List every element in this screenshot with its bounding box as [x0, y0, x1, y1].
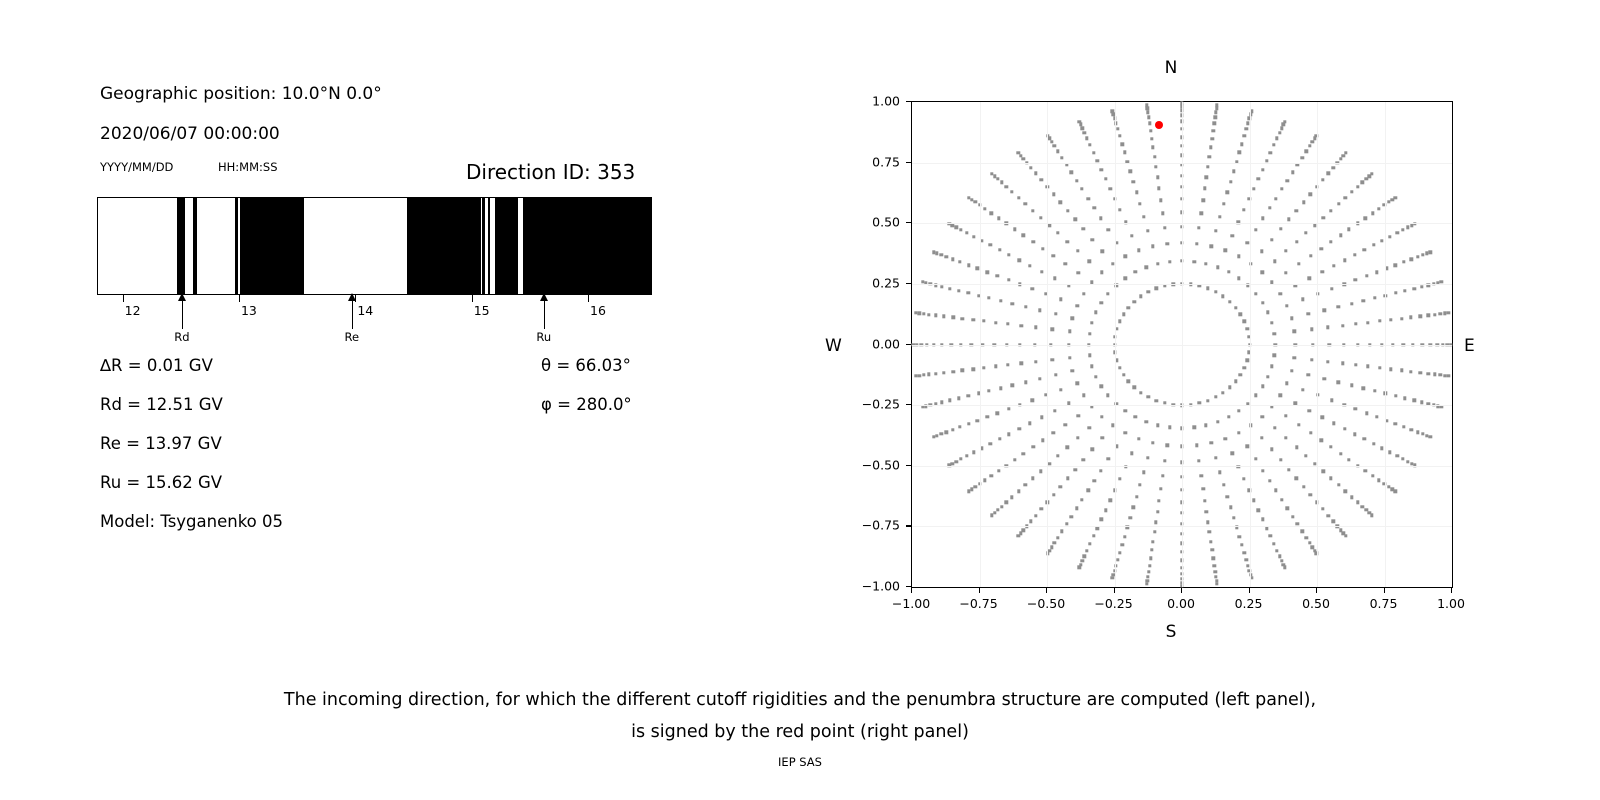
direction-point — [1279, 394, 1282, 397]
direction-point — [1106, 292, 1109, 295]
direction-point — [1428, 435, 1431, 438]
direction-point — [1066, 240, 1069, 243]
direction-point — [1373, 389, 1376, 392]
direction-point — [1394, 263, 1397, 266]
y-axis-tick-label: 0.75 — [846, 154, 900, 169]
direction-point — [1083, 555, 1086, 558]
direction-point — [1221, 391, 1224, 394]
direction-point — [1419, 315, 1422, 318]
direction-point — [1322, 377, 1325, 380]
direction-point — [1372, 243, 1375, 246]
direction-point — [1309, 193, 1312, 196]
direction-point — [966, 394, 969, 397]
marker-arrow-line — [182, 299, 183, 329]
direction-point — [1239, 312, 1242, 315]
direction-point — [1203, 499, 1206, 502]
direction-point — [1270, 364, 1273, 367]
direction-point — [987, 389, 990, 392]
direction-point — [1410, 428, 1413, 431]
direction-point — [1154, 165, 1157, 168]
direction-point — [1168, 426, 1171, 429]
direction-point — [1377, 479, 1380, 482]
direction-point — [1024, 380, 1027, 383]
direction-point — [1287, 218, 1290, 221]
penumbra-axis-tick-label: 15 — [474, 303, 490, 318]
direction-point — [1085, 549, 1088, 552]
direction-point — [917, 312, 920, 315]
direction-point — [1130, 451, 1133, 454]
caption-line-2: is signed by the red point (right panel) — [0, 716, 1600, 748]
grid-line-horizontal — [912, 526, 1452, 527]
direction-point — [1311, 140, 1314, 143]
direction-point — [1007, 433, 1010, 436]
direction-point — [1222, 202, 1225, 205]
direction-point — [1209, 146, 1212, 149]
direction-point — [1416, 430, 1419, 433]
direction-point — [1330, 287, 1333, 290]
penumbra-axis-tick-label: 12 — [125, 303, 141, 318]
direction-point — [1380, 446, 1383, 449]
direction-point — [940, 432, 943, 435]
direction-point — [1210, 441, 1213, 444]
direction-point — [1101, 249, 1104, 252]
direction-point — [1227, 415, 1230, 418]
direction-point — [1018, 259, 1021, 262]
direction-point — [1329, 477, 1332, 480]
direction-point — [996, 177, 999, 180]
direction-point — [1156, 510, 1159, 513]
direction-point — [1050, 358, 1053, 361]
direction-point — [1215, 107, 1218, 110]
direction-point — [1050, 327, 1053, 330]
direction-point — [1330, 398, 1333, 401]
direction-point — [1106, 394, 1109, 397]
direction-point — [1270, 448, 1273, 451]
direction-point — [1308, 541, 1311, 544]
direction-point — [1268, 206, 1271, 209]
direction-point — [1086, 197, 1089, 200]
direction-point — [1232, 516, 1235, 519]
direction-point — [1252, 499, 1255, 502]
direction-point — [1214, 570, 1217, 573]
direction-point — [1104, 177, 1107, 180]
direction-point — [1088, 143, 1091, 146]
direction-point — [1371, 211, 1374, 214]
direction-point — [951, 316, 954, 319]
x-axis-tick-label: −0.50 — [1027, 596, 1065, 611]
direction-point — [1056, 536, 1059, 539]
direction-point — [1029, 520, 1032, 523]
direction-point — [990, 474, 993, 477]
penumbra-axis-tick — [123, 295, 124, 302]
direction-point — [1272, 542, 1275, 545]
x-axis-tick — [1181, 588, 1182, 593]
direction-point — [1320, 247, 1323, 250]
direction-point — [1100, 415, 1103, 418]
direction-point — [927, 373, 930, 376]
direction-point — [1214, 456, 1217, 459]
direction-point — [1052, 254, 1055, 257]
direction-point — [1007, 278, 1010, 281]
direction-point — [989, 243, 992, 246]
direction-point — [1210, 244, 1213, 247]
direction-point — [1322, 470, 1325, 473]
direction-point — [1195, 444, 1198, 447]
direction-point — [914, 374, 917, 377]
direction-point — [1297, 262, 1300, 265]
direction-point — [1022, 157, 1025, 160]
direction-point — [1245, 127, 1248, 130]
direction-point — [1208, 530, 1211, 533]
direction-point — [980, 239, 983, 242]
direction-point — [1115, 327, 1118, 330]
direction-point — [1302, 200, 1305, 203]
direction-point — [1154, 521, 1157, 524]
direction-point — [980, 446, 983, 449]
penumbra-forbidden-band — [193, 198, 196, 294]
direction-point — [1252, 187, 1255, 190]
direction-point — [1421, 253, 1424, 256]
direction-point — [1154, 287, 1157, 290]
direction-point — [971, 318, 974, 321]
direction-point — [1216, 420, 1219, 423]
direction-point — [1362, 386, 1365, 389]
direction-point — [1159, 487, 1162, 490]
direction-point — [951, 257, 954, 260]
direction-point — [1094, 311, 1097, 314]
direction-point — [1339, 157, 1342, 160]
penumbra-axis-tick — [472, 295, 473, 302]
direction-point — [1213, 564, 1216, 567]
direction-point — [1150, 137, 1153, 140]
direction-point — [1301, 298, 1304, 301]
direction-point — [1010, 190, 1013, 193]
direction-point — [1205, 176, 1208, 179]
direction-point — [1034, 360, 1037, 363]
direction-point — [927, 313, 930, 316]
direction-point — [1213, 122, 1216, 125]
direction-point — [1127, 380, 1130, 383]
direction-point — [1321, 416, 1324, 419]
direction-point — [1156, 262, 1159, 265]
direction-point — [1308, 409, 1311, 412]
direction-point — [1060, 530, 1063, 533]
direction-point — [1215, 582, 1218, 585]
direction-point — [1038, 377, 1041, 380]
direction-point — [972, 235, 975, 238]
penumbra-forbidden-band — [482, 198, 485, 294]
direction-point — [940, 401, 943, 404]
direction-point — [1447, 311, 1450, 314]
direction-point — [942, 315, 945, 318]
y-axis-tick — [906, 525, 911, 526]
direction-point — [997, 217, 1000, 220]
direction-point — [1295, 209, 1298, 212]
direction-point — [967, 263, 970, 266]
direction-point — [1344, 489, 1347, 492]
direction-point — [1321, 507, 1324, 510]
direction-point — [958, 425, 961, 428]
penumbra-forbidden-band — [240, 198, 304, 294]
direction-point — [1121, 543, 1124, 546]
direction-point — [1142, 470, 1145, 473]
direction-point — [1034, 514, 1037, 517]
direction-point — [1127, 306, 1130, 309]
direction-point — [1257, 509, 1260, 512]
direction-point — [1146, 229, 1149, 232]
direction-point — [1065, 163, 1068, 166]
direction-point — [972, 451, 975, 454]
direction-point — [1107, 228, 1110, 231]
direction-point — [1054, 312, 1057, 315]
direction-point — [1273, 426, 1276, 429]
direction-point — [1129, 516, 1132, 519]
direction-point — [1284, 249, 1287, 252]
direction-point — [1163, 459, 1166, 462]
direction-point — [1090, 321, 1093, 324]
direction-point — [1104, 509, 1107, 512]
direction-point — [994, 321, 997, 324]
direction-point — [1242, 551, 1245, 554]
direction-point — [1153, 530, 1156, 533]
direction-point — [1147, 395, 1150, 398]
direction-point — [1034, 326, 1037, 329]
y-axis-tick-label: −0.25 — [846, 397, 900, 412]
direction-point — [1300, 530, 1303, 533]
direction-point — [1031, 445, 1034, 448]
direction-point — [1092, 151, 1095, 154]
direction-point — [1237, 255, 1240, 258]
direction-point — [1075, 507, 1078, 510]
direction-point — [1039, 216, 1042, 219]
direction-point — [1077, 566, 1080, 569]
direction-point — [1159, 199, 1162, 202]
direction-point — [1054, 373, 1057, 376]
direction-point — [942, 371, 945, 374]
direction-point — [1118, 366, 1121, 369]
direction-point — [1365, 274, 1368, 277]
direction-point — [1129, 169, 1132, 172]
direction-point — [1031, 209, 1034, 212]
direction-point — [1082, 458, 1085, 461]
direction-point — [1307, 312, 1310, 315]
geographic-position-label: Geographic position: 10.0°N 0.0° — [100, 84, 382, 104]
direction-point — [1412, 399, 1415, 402]
direction-point — [1006, 322, 1009, 325]
direction-point — [1226, 191, 1229, 194]
direction-point — [1278, 131, 1281, 134]
direction-point — [1304, 150, 1307, 153]
grid-line-horizontal — [912, 405, 1452, 406]
direction-point — [1088, 332, 1091, 335]
direction-point — [1428, 250, 1431, 253]
direction-point — [1395, 454, 1398, 457]
direction-point — [1290, 316, 1293, 319]
direction-point — [1401, 228, 1404, 231]
value-re: Re = 13.97 GV — [100, 434, 222, 453]
direction-point — [994, 365, 997, 368]
direction-point — [1005, 501, 1008, 504]
direction-point — [1068, 330, 1071, 333]
direction-point — [1146, 107, 1149, 110]
direction-point — [1337, 483, 1340, 486]
direction-point — [948, 287, 951, 290]
y-axis-tick-label: 0.00 — [846, 336, 900, 351]
direction-point — [922, 312, 925, 315]
direction-point — [1031, 398, 1034, 401]
direction-point — [990, 513, 993, 516]
direction-point — [1088, 260, 1091, 263]
direction-point — [1123, 151, 1126, 154]
direction-point — [1394, 291, 1397, 294]
direction-point — [1332, 264, 1335, 267]
direction-point — [1040, 270, 1043, 273]
direction-point — [999, 386, 1002, 389]
direction-point — [986, 415, 989, 418]
direction-point — [935, 434, 938, 437]
grid-line-horizontal — [912, 284, 1452, 285]
direction-point — [1091, 448, 1094, 451]
direction-point — [1409, 316, 1412, 319]
direction-point — [1122, 373, 1125, 376]
direction-point — [1065, 522, 1068, 525]
direction-point — [1274, 489, 1277, 492]
direction-point — [1421, 432, 1424, 435]
direction-point — [1366, 365, 1369, 368]
direction-point — [1208, 155, 1211, 158]
direction-point — [1377, 207, 1380, 210]
direction-point — [1161, 212, 1164, 215]
direction-id-label: Direction ID: 353 — [466, 160, 635, 184]
direction-point — [1221, 295, 1224, 298]
direction-point — [1059, 485, 1062, 488]
direction-point — [1322, 309, 1325, 312]
direction-point — [1273, 260, 1276, 263]
direction-point — [922, 373, 925, 376]
direction-point — [1295, 240, 1298, 243]
direction-point — [1284, 414, 1287, 417]
y-axis-tick — [906, 465, 911, 466]
direction-point — [966, 291, 969, 294]
direction-point — [1350, 302, 1353, 305]
direction-point — [1133, 300, 1136, 303]
direction-point — [1343, 259, 1346, 262]
direction-point — [1090, 364, 1093, 367]
direction-point — [1285, 304, 1288, 307]
direction-point — [1133, 386, 1136, 389]
direction-point — [1308, 144, 1311, 147]
direction-point — [1321, 178, 1324, 181]
direction-point — [1301, 388, 1304, 391]
direction-point — [1052, 193, 1055, 196]
selected-direction-point[interactable] — [1155, 121, 1163, 129]
direction-point — [1228, 300, 1231, 303]
direction-point — [1070, 515, 1073, 518]
direction-point — [1050, 140, 1053, 143]
direction-point — [1053, 144, 1056, 147]
direction-point — [1040, 178, 1043, 181]
direction-point — [1393, 490, 1396, 493]
direction-point — [1150, 548, 1153, 551]
direction-point — [1006, 363, 1009, 366]
direction-point — [1419, 371, 1422, 374]
direction-point — [1195, 242, 1198, 245]
direction-point — [1039, 470, 1042, 473]
direction-point — [1270, 238, 1273, 241]
direction-point — [1394, 422, 1397, 425]
direction-point — [1205, 510, 1208, 513]
x-axis-tick — [1316, 588, 1317, 593]
direction-point — [1122, 312, 1125, 315]
direction-point — [1278, 555, 1281, 558]
compass-south-label: S — [1166, 622, 1177, 642]
direction-point — [1291, 515, 1294, 518]
direction-point — [1031, 477, 1034, 480]
direction-point — [1081, 127, 1084, 130]
direction-point — [1214, 290, 1217, 293]
direction-point — [1291, 171, 1294, 174]
direction-point — [1139, 391, 1142, 394]
direction-point — [1007, 253, 1010, 256]
direction-point — [1403, 289, 1406, 292]
direction-point — [1266, 311, 1269, 314]
direction-point — [1024, 202, 1027, 205]
direction-point — [1268, 479, 1271, 482]
direction-point — [1024, 305, 1027, 308]
direction-point — [961, 369, 964, 372]
direction-point — [1064, 262, 1067, 265]
direction-point — [1309, 431, 1312, 434]
direction-point — [965, 454, 968, 457]
direction-point — [1420, 285, 1423, 288]
direction-point — [1138, 483, 1141, 486]
direction-point — [1022, 234, 1025, 237]
direction-point — [998, 248, 1001, 251]
direction-point — [1362, 299, 1365, 302]
direction-point — [1145, 104, 1148, 107]
direction-point — [1361, 181, 1364, 184]
direction-point — [987, 296, 990, 299]
direction-point — [951, 428, 954, 431]
direction-point — [996, 411, 999, 414]
direction-point — [1234, 306, 1237, 309]
direction-point — [957, 289, 960, 292]
direction-point — [1116, 127, 1119, 130]
direction-point — [1274, 197, 1277, 200]
direction-point — [1347, 458, 1350, 461]
direction-point — [1192, 260, 1195, 263]
direction-point — [1146, 456, 1149, 459]
direction-point — [1148, 564, 1151, 567]
y-axis-tick-label: 1.00 — [846, 94, 900, 109]
direction-point — [1257, 177, 1260, 180]
direction-point — [1402, 260, 1405, 263]
direction-point — [1296, 163, 1299, 166]
direction-point — [1279, 458, 1282, 461]
direction-point — [1363, 469, 1366, 472]
direction-point — [1270, 321, 1273, 324]
direction-point — [1245, 327, 1248, 330]
direction-point — [1011, 384, 1014, 387]
direction-point — [996, 508, 999, 511]
direction-point — [1038, 309, 1041, 312]
direction-point — [1124, 409, 1127, 412]
compass-east-label: E — [1464, 336, 1475, 356]
direction-point — [1280, 498, 1283, 501]
direction-point — [1149, 557, 1152, 560]
direction-point — [1066, 477, 1069, 480]
direction-point — [1192, 426, 1195, 429]
